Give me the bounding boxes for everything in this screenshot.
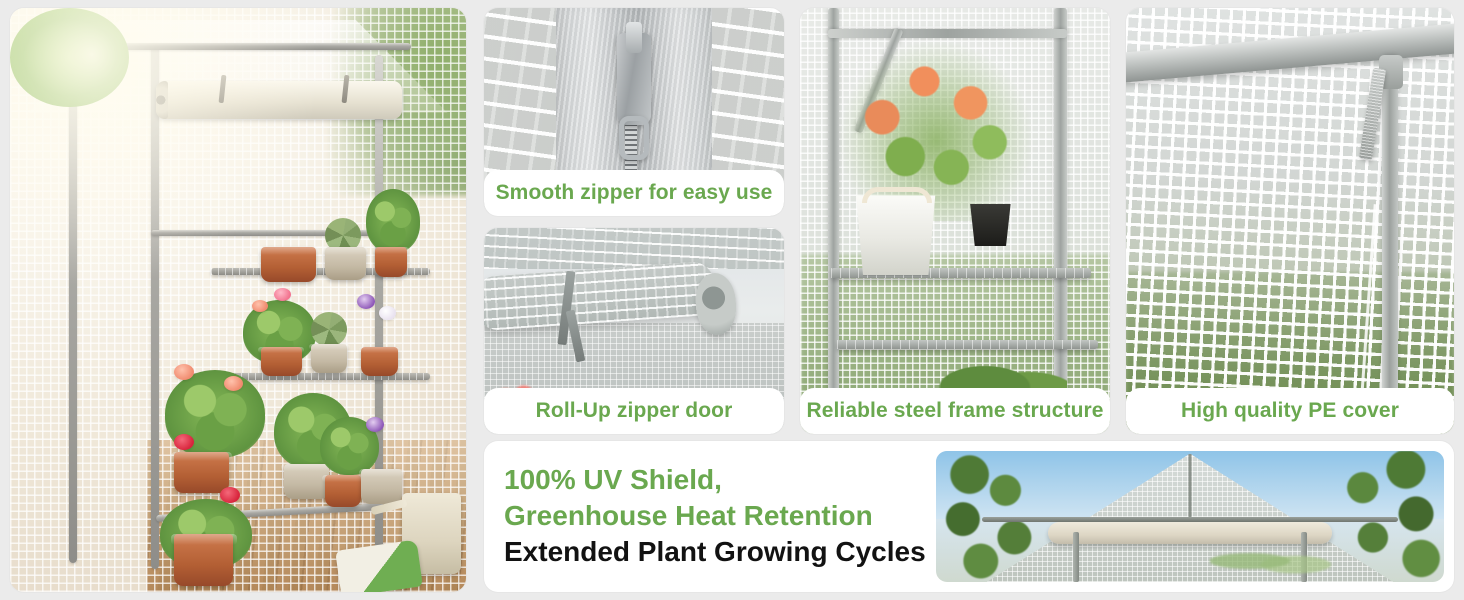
rollup-caption-text: Roll-Up zipper door — [536, 399, 733, 423]
greenhouse-scene — [10, 8, 466, 592]
zipper-caption-text: Smooth zipper for easy use — [496, 181, 773, 205]
small-black-pot — [967, 204, 1013, 246]
banner-line-growing-cycles: Extended Plant Growing Cycles — [504, 534, 954, 570]
banner-headline-block: 100% UV Shield, Greenhouse Heat Retentio… — [504, 455, 954, 577]
zipper-pull-tab — [619, 116, 649, 160]
pe-cover-feature-panel: High quality PE cover — [1126, 8, 1454, 434]
white-bucket-planter — [853, 195, 939, 275]
steel-frame-feature-panel: Reliable steel frame structure — [800, 8, 1110, 434]
frame-caption-bar: Reliable steel frame structure — [800, 388, 1110, 434]
banner-frame-leg-left — [1073, 532, 1079, 582]
banner-roof-photo — [936, 451, 1444, 582]
pe-cover-photo — [1126, 8, 1454, 434]
frame-caption-text: Reliable steel frame structure — [806, 399, 1103, 423]
rollup-door-feature-panel: Roll-Up zipper door — [484, 228, 784, 434]
zipper-caption-bar: Smooth zipper for easy use — [484, 170, 784, 216]
banner-rolled-cover-bar — [1048, 522, 1333, 544]
hero-greenhouse-photo — [10, 8, 466, 592]
zipper-feature-panel: Smooth zipper for easy use — [484, 8, 784, 216]
frame-top-rail — [828, 29, 1067, 38]
rollup-roof-panel — [484, 228, 784, 269]
uv-shield-banner-panel: 100% UV Shield, Greenhouse Heat Retentio… — [484, 441, 1454, 592]
rollup-caption-bar: Roll-Up zipper door — [484, 388, 784, 434]
pe-caption-text: High quality PE cover — [1181, 399, 1399, 423]
sunlight-wash — [10, 8, 466, 592]
banner-interior-plant — [1210, 543, 1342, 580]
pe-frame-vertical-post — [1382, 55, 1398, 434]
banner-line-uv-shield: 100% UV Shield, — [504, 462, 954, 498]
frame-corner-post-left — [828, 8, 839, 434]
banner-roof-ridge — [1189, 454, 1192, 522]
infographic-board: Smooth zipper for easy use Roll-Up zippe… — [0, 0, 1464, 600]
hero-greenhouse-panel — [10, 8, 466, 592]
bucket-rope-handle — [862, 187, 932, 203]
banner-cross-beam — [982, 517, 1399, 522]
steel-frame-photo — [800, 8, 1110, 434]
pe-caption-bar: High quality PE cover — [1126, 388, 1454, 434]
zipper-slider — [617, 33, 651, 125]
banner-line-heat-retention: Greenhouse Heat Retention — [504, 498, 954, 534]
